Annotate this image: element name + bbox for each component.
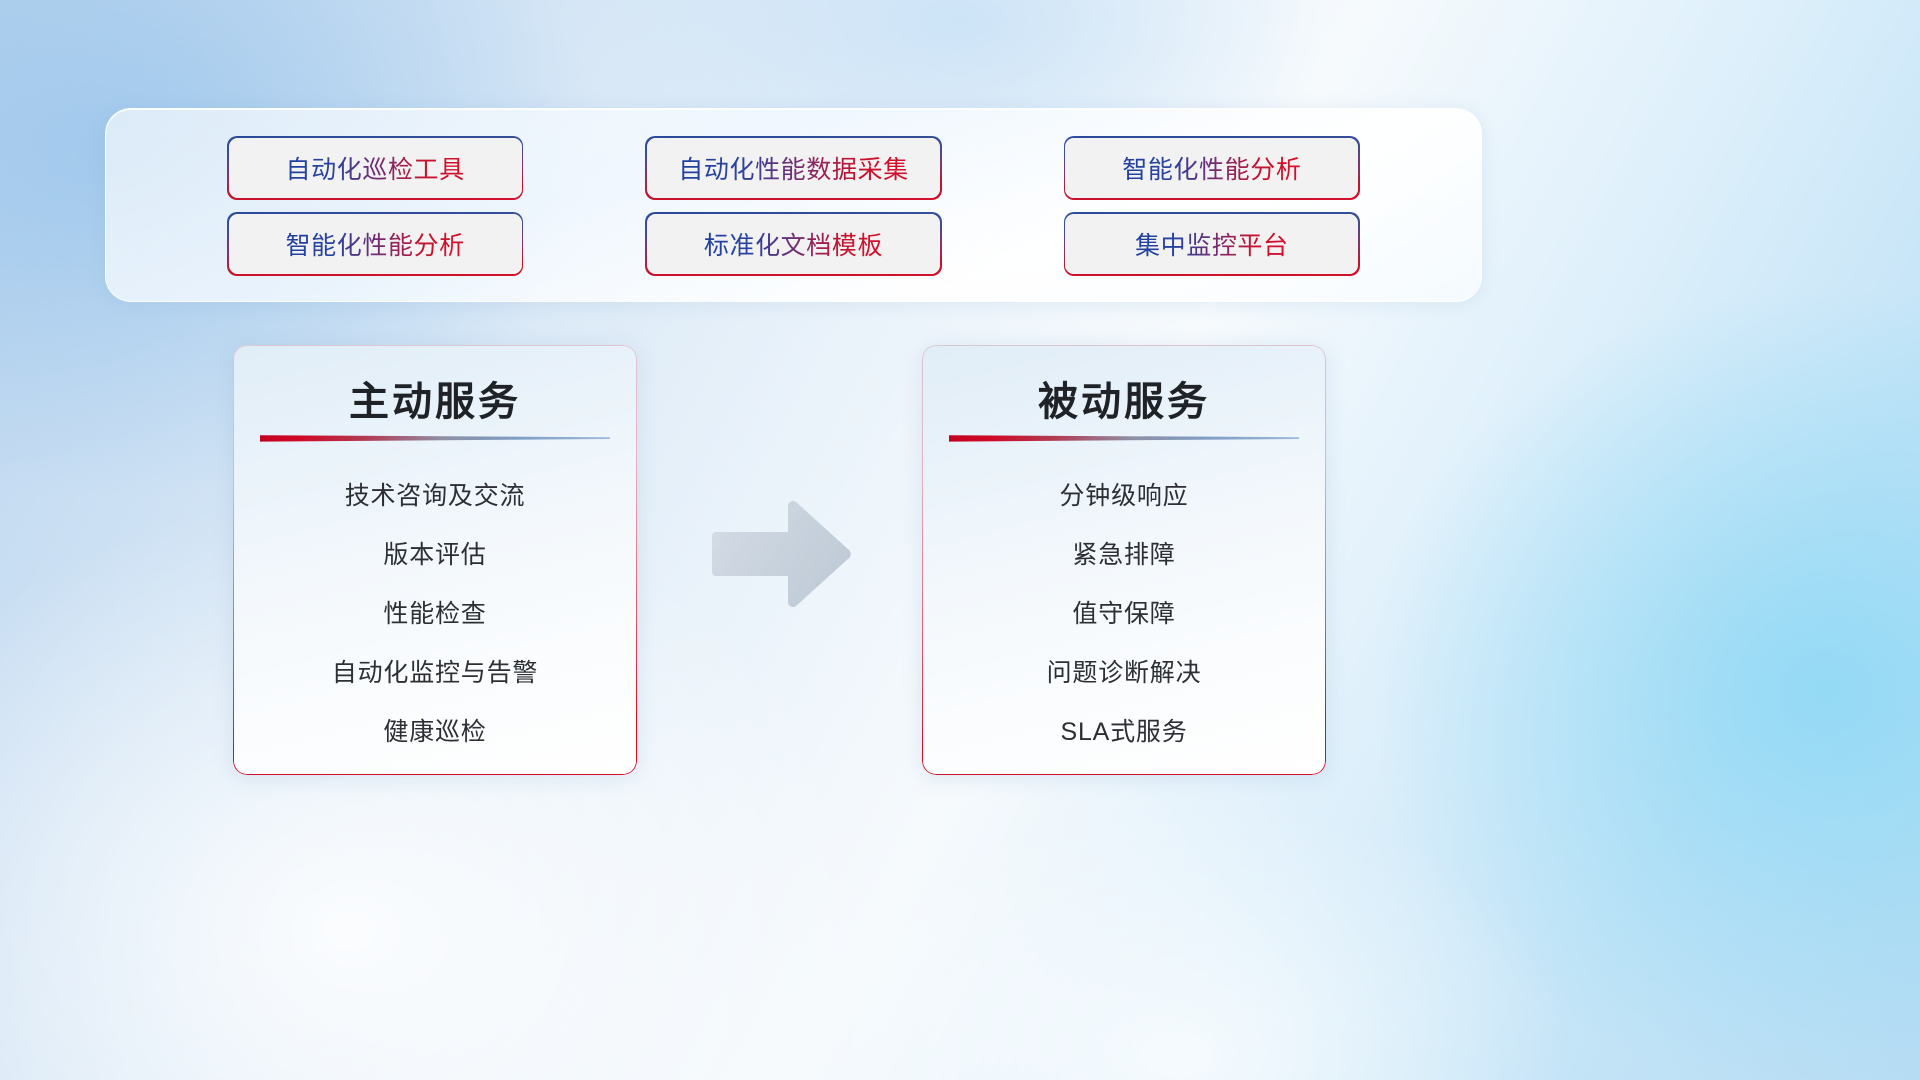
service-card-reactive-list: 分钟级响应 紧急排障 值守保障 问题诊断解决 SLA式服务 <box>922 467 1326 762</box>
service-card-reactive: 被动服务 分钟级响应 紧急排障 值守保障 问题诊断解决 SLA式服务 <box>922 345 1326 775</box>
service-card-proactive: 主动服务 技术咨询及交流 版本评估 性能检查 自动化监控与告警 健康巡检 <box>233 345 637 775</box>
capability-chip-6[interactable]: 集中监控平台 <box>1065 214 1358 274</box>
list-item: SLA式服务 <box>1060 703 1187 762</box>
capability-chip-3-label: 智能化性能分析 <box>1122 150 1301 186</box>
capability-chip-2[interactable]: 自动化性能数据采集 <box>647 138 940 198</box>
list-item: 健康巡检 <box>383 703 486 762</box>
list-item: 自动化监控与告警 <box>332 644 538 703</box>
capability-chip-4-label: 智能化性能分析 <box>286 226 465 262</box>
list-item: 问题诊断解决 <box>1047 644 1202 703</box>
capability-chip-6-label: 集中监控平台 <box>1135 226 1289 262</box>
list-item: 技术咨询及交流 <box>345 467 526 526</box>
list-item: 值守保障 <box>1072 585 1175 644</box>
capability-chip-3[interactable]: 智能化性能分析 <box>1065 138 1358 198</box>
capability-chip-1[interactable]: 自动化巡检工具 <box>229 138 522 198</box>
capability-chip-grid: 自动化巡检工具 自动化性能数据采集 智能化性能分析 智能化性能分析 标准化文档模… <box>106 109 1481 301</box>
capability-chip-4[interactable]: 智能化性能分析 <box>229 214 522 274</box>
service-card-proactive-title: 主动服务 <box>233 369 637 427</box>
card-divider-reactive <box>949 433 1299 442</box>
capability-chips-panel: 自动化巡检工具 自动化性能数据采集 智能化性能分析 智能化性能分析 标准化文档模… <box>105 108 1482 302</box>
card-divider-proactive <box>260 433 610 442</box>
capability-chip-5[interactable]: 标准化文档模板 <box>647 214 940 274</box>
list-item: 性能检查 <box>383 585 486 644</box>
list-item: 紧急排障 <box>1072 526 1175 585</box>
service-card-proactive-list: 技术咨询及交流 版本评估 性能检查 自动化监控与告警 健康巡检 <box>233 467 637 762</box>
list-item: 版本评估 <box>383 526 486 585</box>
capability-chip-2-label: 自动化性能数据采集 <box>678 150 908 186</box>
capability-chip-5-label: 标准化文档模板 <box>704 226 883 262</box>
capability-chip-1-label: 自动化巡检工具 <box>286 150 465 186</box>
list-item: 分钟级响应 <box>1059 467 1188 526</box>
flow-arrow-right <box>712 500 854 608</box>
service-card-reactive-title: 被动服务 <box>922 369 1326 427</box>
